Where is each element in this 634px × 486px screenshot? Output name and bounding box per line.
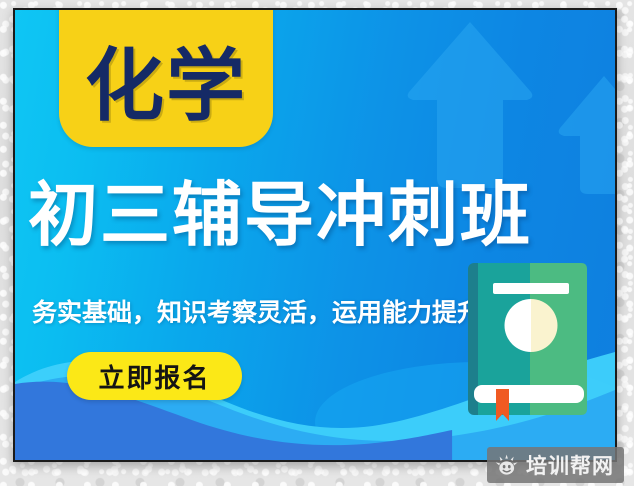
sun-face-icon	[495, 454, 519, 476]
book-icon	[468, 263, 591, 423]
headline-text: 初三辅导冲刺班	[28, 180, 608, 250]
background-arrow-small-icon	[556, 72, 615, 194]
watermark: 培训帮网	[487, 447, 624, 483]
background-arrow-large-icon	[405, 18, 535, 190]
enroll-now-button-label: 立即报名	[98, 358, 210, 395]
enroll-now-button[interactable]: 立即报名	[67, 352, 242, 400]
subject-badge-label: 化学	[85, 46, 247, 147]
watermark-label: 培训帮网	[526, 450, 614, 480]
subtitle-text: 务实基础，知识考察灵活，运用能力提升	[32, 293, 482, 329]
banner-background: 化学 初三辅导冲刺班 务实基础，知识考察灵活，运用能力提升 立即报名	[15, 10, 615, 460]
subject-badge: 化学	[59, 10, 273, 147]
course-promo-banner: 化学 初三辅导冲刺班 务实基础，知识考察灵活，运用能力提升 立即报名	[13, 8, 617, 462]
page-canvas: 化学 初三辅导冲刺班 务实基础，知识考察灵活，运用能力提升 立即报名	[0, 0, 634, 486]
